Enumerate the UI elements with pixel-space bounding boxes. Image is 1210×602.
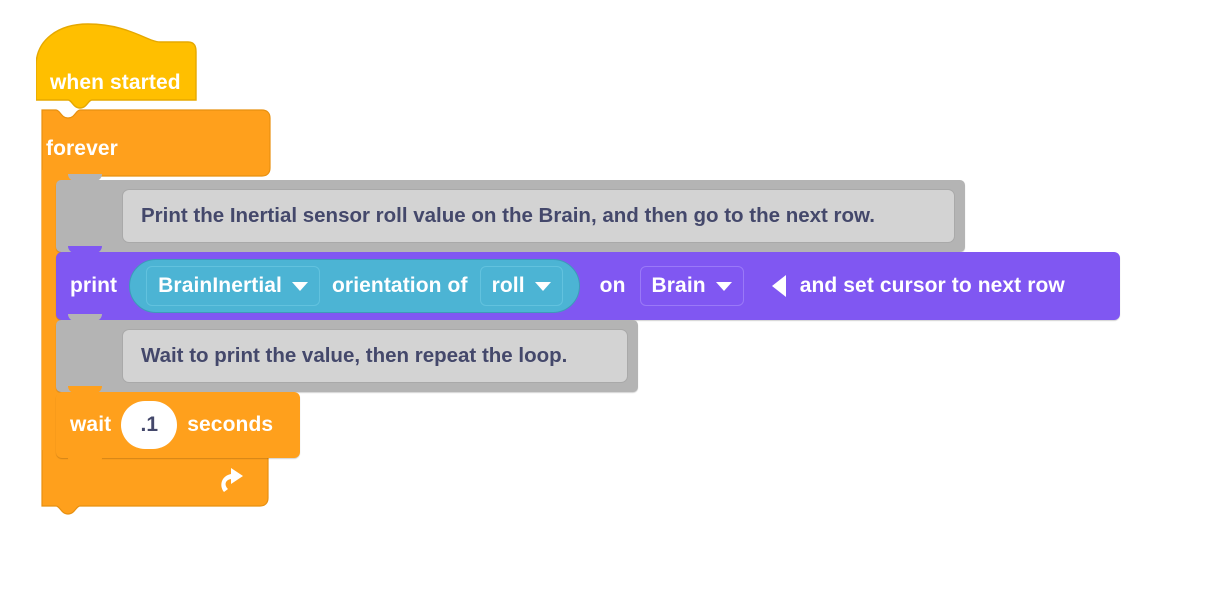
chevron-down-icon[interactable] <box>716 282 732 291</box>
block-when-started[interactable]: when started <box>36 22 196 108</box>
comment-notch-top <box>68 314 102 321</box>
print-notch-top <box>68 246 102 253</box>
chevron-down-icon[interactable] <box>535 282 551 291</box>
comment-panel[interactable]: Print the Inertial sensor roll value on … <box>122 189 955 243</box>
hat-block-shape <box>36 22 206 114</box>
block-print[interactable]: print BrainInertial orientation of roll … <box>56 252 1120 320</box>
dropdown-device[interactable]: BrainInertial <box>146 266 320 306</box>
wait-label: wait <box>70 413 111 437</box>
comment-block-print-description[interactable]: Print the Inertial sensor roll value on … <box>56 180 965 252</box>
print-on-label: on <box>600 274 626 298</box>
carriage-return-icon <box>772 275 786 297</box>
block-wait[interactable]: wait .1 seconds <box>56 392 300 458</box>
wait-unit-label: seconds <box>187 413 273 437</box>
comment-block-wait-description[interactable]: Wait to print the value, then repeat the… <box>56 320 638 392</box>
dropdown-target-label: Brain <box>652 274 706 298</box>
print-newline-label: and set cursor to next row <box>800 274 1065 298</box>
reporter-inertial-orientation[interactable]: BrainInertial orientation of roll <box>129 259 579 313</box>
comment-text: Wait to print the value, then repeat the… <box>141 344 567 368</box>
print-label: print <box>70 274 117 298</box>
reporter-middle-label: orientation of <box>332 274 468 298</box>
wait-notch-bottom <box>68 458 102 465</box>
comment-notch-top <box>68 174 102 181</box>
wait-seconds-value: .1 <box>140 413 158 437</box>
comment-text: Print the Inertial sensor roll value on … <box>141 204 875 228</box>
forever-label: forever <box>46 137 118 161</box>
dropdown-device-label: BrainInertial <box>158 274 282 298</box>
chevron-down-icon[interactable] <box>292 282 308 291</box>
dropdown-axis-label: roll <box>492 274 525 298</box>
comment-panel[interactable]: Wait to print the value, then repeat the… <box>122 329 628 383</box>
when-started-label: when started <box>50 71 181 95</box>
wait-seconds-input[interactable]: .1 <box>121 401 177 449</box>
dropdown-axis[interactable]: roll <box>480 266 563 306</box>
wait-notch-top <box>68 386 102 393</box>
block-workspace-canvas[interactable]: when started forever Print the Inertial … <box>0 0 1210 602</box>
loop-arrow-icon <box>216 465 250 499</box>
dropdown-target-device[interactable]: Brain <box>640 266 744 306</box>
